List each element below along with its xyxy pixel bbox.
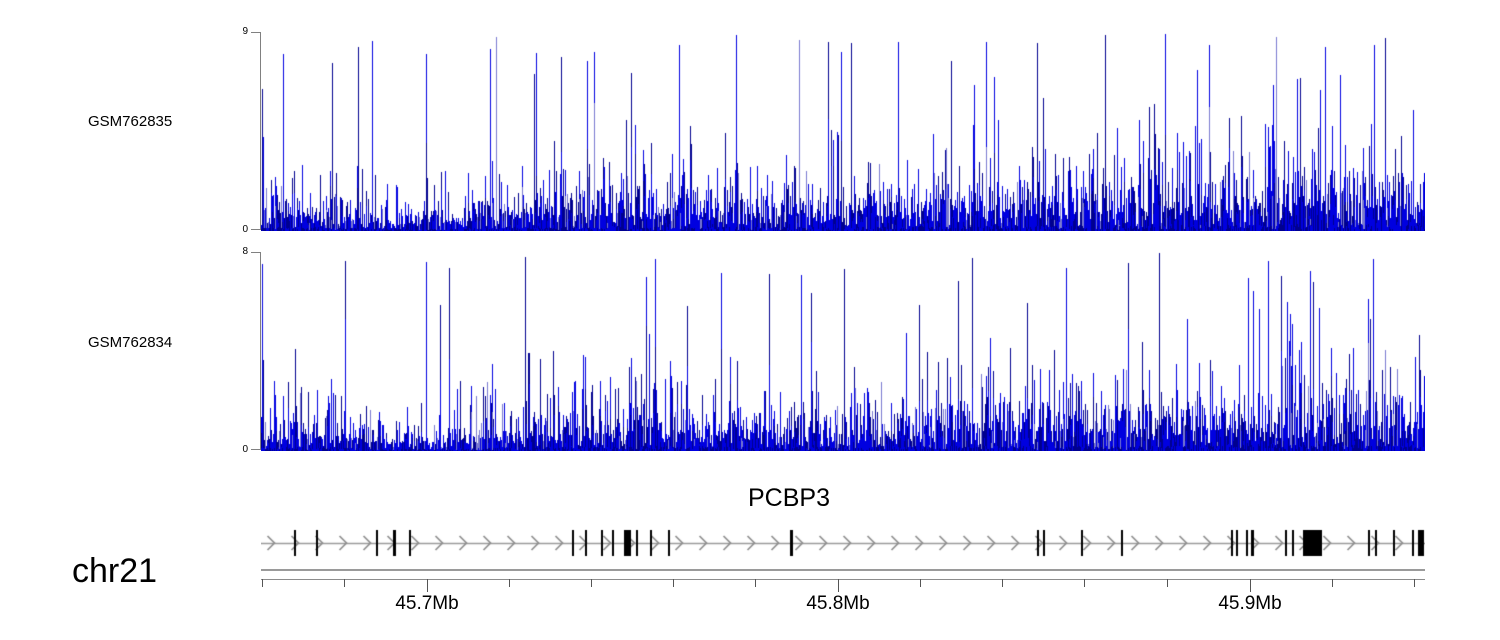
axis-tick-minor — [1414, 579, 1415, 587]
genome-axis[interactable]: 45.7Mb45.8Mb45.9Mb — [261, 569, 1425, 629]
axis-tick-minor — [673, 579, 674, 587]
axis-tick-minor — [262, 579, 263, 587]
axis-tick-label: 45.8Mb — [806, 593, 869, 615]
gene-model-canvas[interactable] — [261, 526, 1425, 559]
axis-tick-minor — [920, 579, 921, 587]
gene-model-track[interactable] — [261, 526, 1425, 559]
track-gsm762834: GSM762834 8 0 — [0, 0, 1500, 460]
axis-tick-minor — [1084, 579, 1085, 587]
axis-tick-major — [1250, 579, 1251, 592]
axis-tick-minor — [1167, 579, 1168, 587]
chromosome-label: chr21 — [72, 552, 157, 591]
coverage-plot-gsm762834[interactable] — [261, 252, 1425, 451]
axis-tick-minor — [591, 579, 592, 587]
axis-tick-label: 45.9Mb — [1218, 593, 1281, 615]
y-axis-tick-min — [251, 449, 261, 450]
gene-name-label: PCBP3 — [748, 484, 830, 513]
axis-tick-major — [838, 579, 839, 592]
track-label-gsm762834: GSM762834 — [88, 334, 172, 351]
axis-tick-minor — [1002, 579, 1003, 587]
axis-tick-minor — [344, 579, 345, 587]
axis-tick-major — [427, 579, 428, 592]
y-axis-min-label: 0 — [242, 445, 248, 455]
axis-tick-minor — [509, 579, 510, 587]
y-axis-max-label: 8 — [242, 247, 248, 257]
genome-axis-rule — [261, 569, 1425, 571]
y-axis-tick-max — [251, 252, 261, 253]
axis-tick-label: 45.7Mb — [395, 593, 458, 615]
coverage-canvas-gsm762834[interactable] — [261, 252, 1425, 451]
axis-tick-minor — [755, 579, 756, 587]
axis-tick-minor — [1332, 579, 1333, 587]
